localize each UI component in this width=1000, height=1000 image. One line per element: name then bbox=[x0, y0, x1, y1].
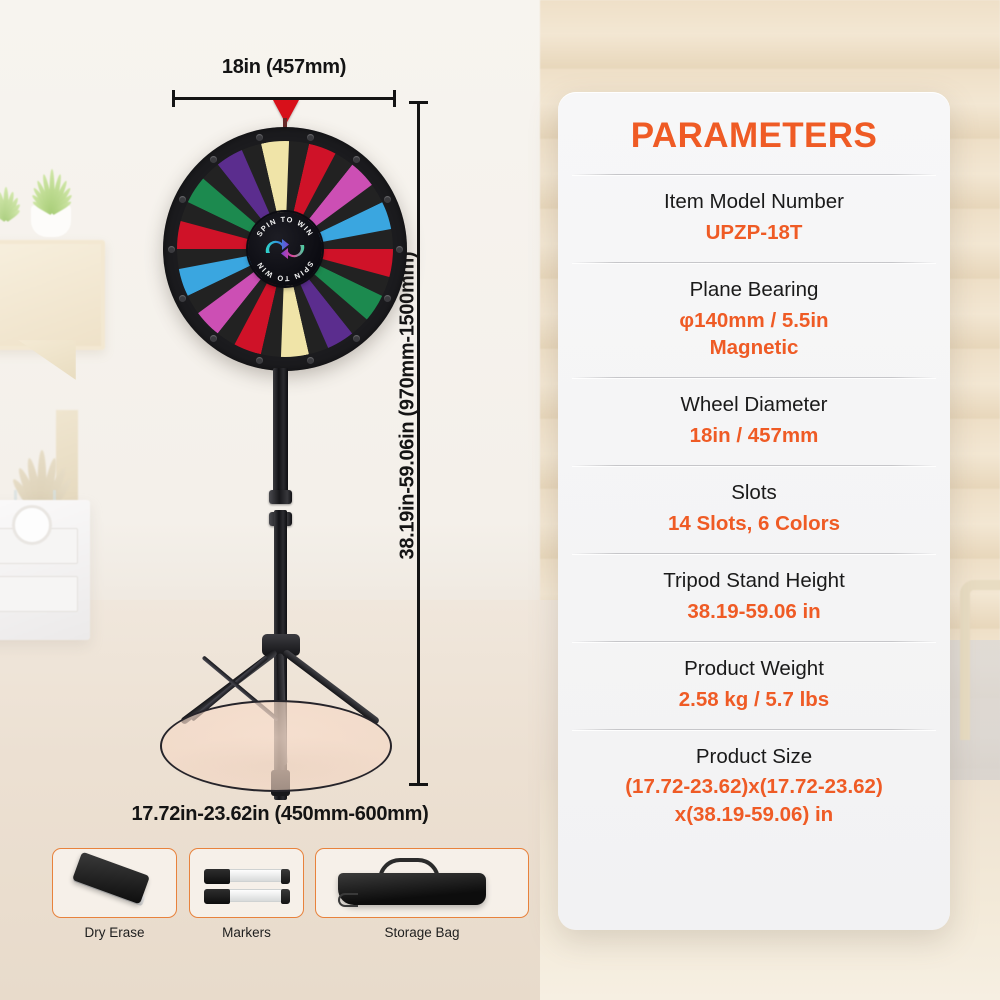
wheel-peg bbox=[353, 335, 360, 342]
parameter-label: Wheel Diameter bbox=[572, 391, 936, 419]
parameter-value: UPZP-18T bbox=[572, 219, 936, 246]
parameter-row: Tripod Stand Height38.19-59.06 in bbox=[558, 553, 950, 641]
parameter-value: 14 Slots, 6 Colors bbox=[572, 510, 936, 537]
marker-icon bbox=[204, 869, 290, 882]
parameter-row: Wheel Diameter18in / 457mm bbox=[558, 377, 950, 465]
accessory-label: Dry Erase bbox=[52, 925, 177, 940]
wheel-peg bbox=[353, 156, 360, 163]
wheel-peg bbox=[179, 295, 186, 302]
wheel-peg bbox=[168, 246, 175, 253]
parameter-label: Product Weight bbox=[572, 655, 936, 683]
wooden-chair bbox=[960, 580, 1000, 740]
parameter-label: Slots bbox=[572, 479, 936, 507]
spin-arrows-icon bbox=[262, 236, 308, 262]
base-footprint-ellipse bbox=[160, 700, 392, 792]
accessory-image-box bbox=[315, 848, 529, 918]
accessory-image-box bbox=[189, 848, 304, 918]
accessory-label: Markers bbox=[189, 925, 304, 940]
marker-icon bbox=[204, 889, 290, 902]
parameter-label: Product Size bbox=[572, 743, 936, 771]
parameter-value: 38.19-59.06 in bbox=[572, 598, 936, 625]
accessory-markers[interactable]: Markers bbox=[189, 848, 304, 940]
wheel-hub: SPIN TO WIN SPIN TO WIN bbox=[248, 212, 322, 286]
parameter-row: Product Size(17.72-23.62)x(17.72-23.62) … bbox=[558, 729, 950, 844]
eraser-icon bbox=[72, 852, 150, 905]
parameter-value: φ140mm / 5.5in Magnetic bbox=[572, 307, 936, 362]
parameter-row: Plane Bearingφ140mm / 5.5in Magnetic bbox=[558, 262, 950, 377]
accessory-storage-bag[interactable]: Storage Bag bbox=[315, 848, 529, 940]
parameter-value: (17.72-23.62)x(17.72-23.62) x(38.19-59.0… bbox=[572, 773, 936, 828]
accessory-dry-erase[interactable]: Dry Erase bbox=[52, 848, 177, 940]
parameter-row: Item Model NumberUPZP-18T bbox=[558, 174, 950, 262]
svg-text:SPIN TO WIN: SPIN TO WIN bbox=[255, 260, 316, 283]
accessory-label: Storage Bag bbox=[315, 925, 529, 940]
parameter-rows: Item Model NumberUPZP-18TPlane Bearingφ1… bbox=[558, 174, 950, 844]
parameter-value: 2.58 kg / 5.7 lbs bbox=[572, 686, 936, 713]
accessories-row: Dry Erase Markers Storage Bag bbox=[52, 848, 528, 956]
wheel-peg bbox=[396, 246, 403, 253]
wheel-peg bbox=[256, 357, 263, 364]
parameter-row: Product Weight2.58 kg / 5.7 lbs bbox=[558, 641, 950, 729]
wheel-peg bbox=[307, 357, 314, 364]
pole-collar-upper bbox=[269, 490, 292, 504]
prize-wheel[interactable]: SPIN TO WIN SPIN TO WIN bbox=[163, 127, 407, 371]
bag-icon bbox=[338, 873, 486, 905]
telescoping-pole-upper bbox=[273, 368, 288, 498]
panel-title: PARAMETERS bbox=[558, 116, 950, 156]
parameter-label: Item Model Number bbox=[572, 188, 936, 216]
parameter-label: Plane Bearing bbox=[572, 276, 936, 304]
parameter-row: Slots14 Slots, 6 Colors bbox=[558, 465, 950, 553]
accessory-image-box bbox=[52, 848, 177, 918]
parameter-value: 18in / 457mm bbox=[572, 422, 936, 449]
bag-strap-icon bbox=[338, 893, 358, 907]
wheel-peg bbox=[179, 196, 186, 203]
parameters-panel: PARAMETERS Item Model NumberUPZP-18TPlan… bbox=[558, 92, 950, 930]
parameter-label: Tripod Stand Height bbox=[572, 567, 936, 595]
